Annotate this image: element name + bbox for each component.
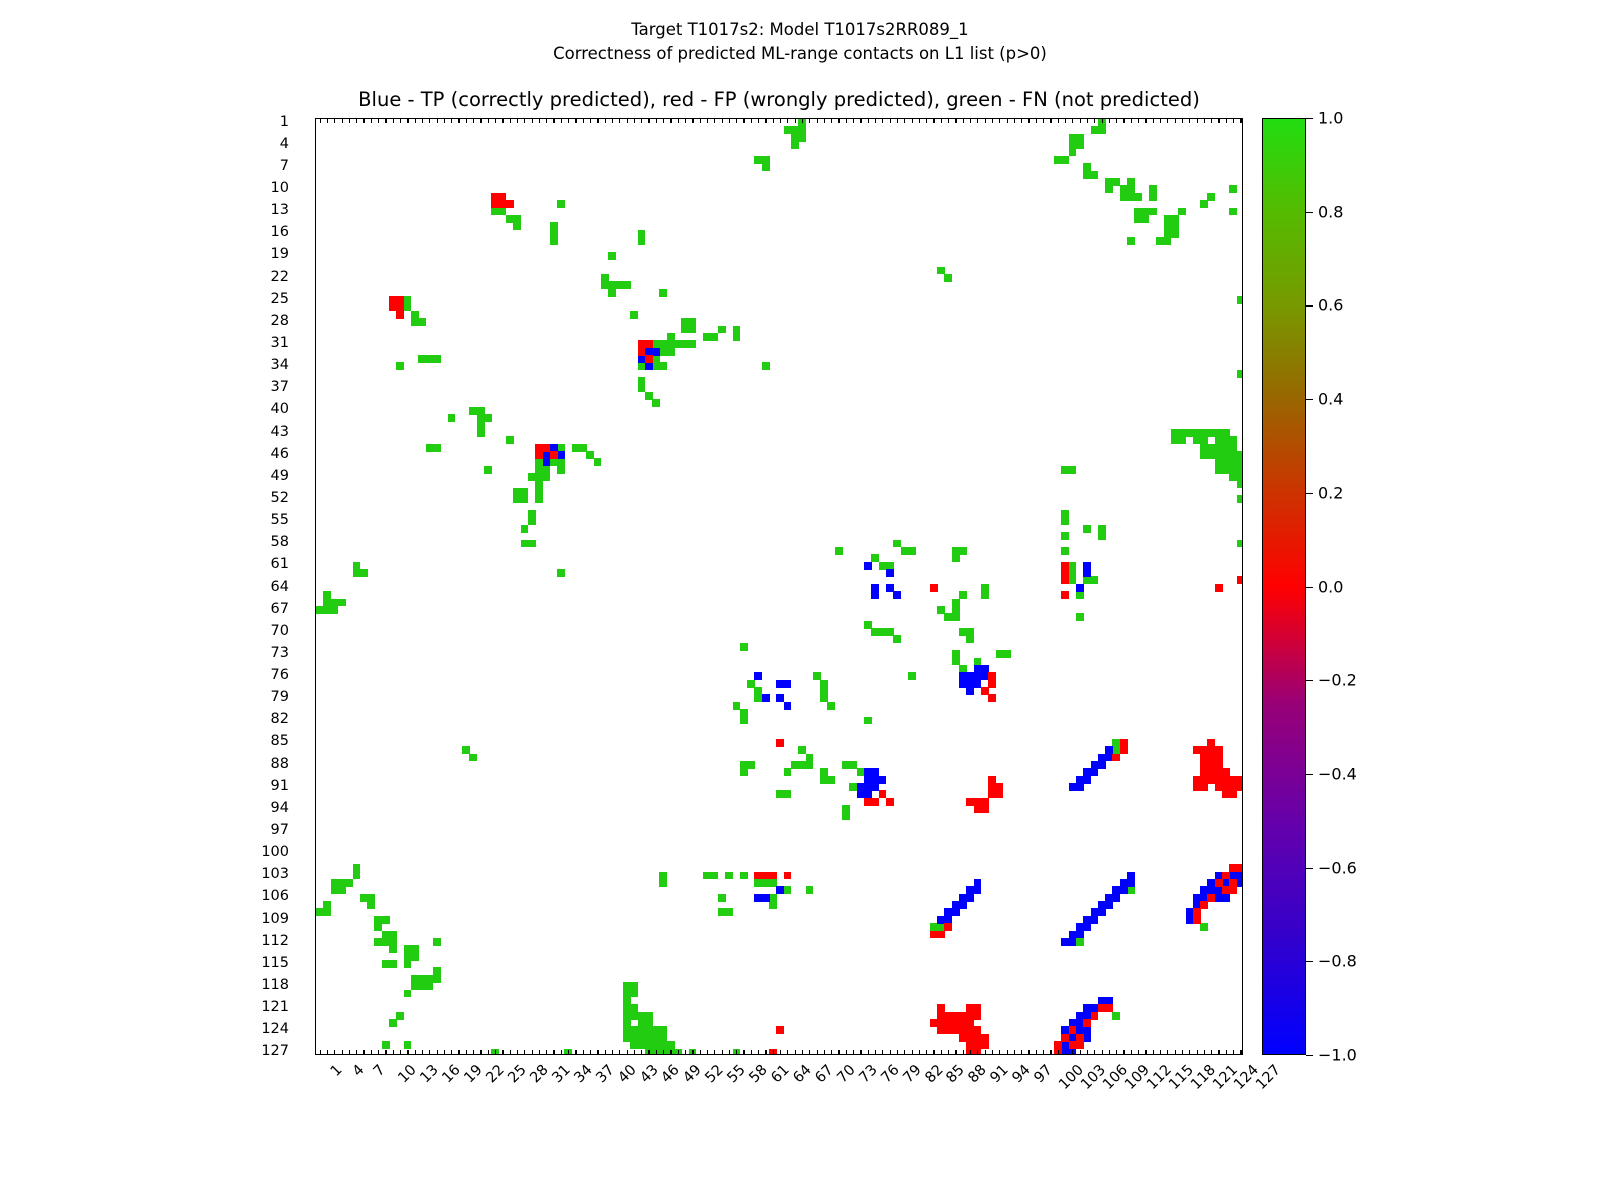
x-tick-minor	[1233, 1050, 1234, 1054]
x-tick-minor	[1102, 1050, 1103, 1054]
x-tick-minor	[1153, 119, 1154, 123]
x-tick-major	[648, 1050, 649, 1055]
contact-cell	[404, 1041, 412, 1049]
contact-cell	[864, 562, 872, 570]
contact-cell	[1207, 894, 1215, 902]
x-tick-minor	[327, 1050, 328, 1054]
contact-cell	[396, 1012, 404, 1020]
y-tick-minor	[315, 248, 316, 249]
y-tick-minor	[315, 226, 316, 227]
y-tick-minor	[315, 381, 316, 382]
contact-cell	[718, 326, 726, 334]
y-tick-minor	[315, 824, 316, 825]
y-tick-minor	[315, 683, 316, 684]
x-tick-minor	[561, 119, 562, 123]
contact-cell	[754, 672, 762, 680]
y-axis-tick-label: 118	[261, 977, 289, 993]
x-tick-minor	[963, 119, 964, 123]
y-tick-minor	[315, 315, 316, 316]
x-tick-minor	[1080, 119, 1081, 123]
x-tick-minor	[495, 119, 496, 123]
x-tick-minor	[992, 1050, 993, 1054]
y-tick-major	[315, 433, 316, 434]
y-tick-major	[315, 167, 316, 168]
y-tick-major	[315, 787, 316, 788]
contact-cell	[689, 326, 697, 334]
contact-cell	[1237, 783, 1243, 791]
contact-cell	[1149, 208, 1157, 216]
x-tick-minor	[1123, 1050, 1124, 1054]
x-tick-minor	[480, 119, 481, 123]
y-axis-tick-label: 7	[280, 158, 289, 174]
x-tick-minor	[1189, 119, 1190, 123]
x-tick-minor	[751, 1050, 752, 1054]
x-tick-major	[407, 1050, 408, 1055]
contact-cell	[528, 540, 536, 548]
contact-cell	[871, 776, 879, 784]
contact-cell	[996, 790, 1004, 798]
y-tick-minor	[315, 713, 316, 714]
y-tick-major	[315, 499, 316, 500]
x-tick-minor	[378, 119, 379, 123]
x-tick-minor	[817, 1050, 818, 1054]
contact-cell	[1076, 1041, 1084, 1049]
contact-cell	[557, 466, 565, 474]
x-tick-major	[451, 1050, 452, 1055]
x-tick-minor	[502, 119, 503, 123]
y-axis-tick-label: 22	[271, 269, 289, 285]
contact-cell	[966, 680, 974, 688]
colorbar-tick	[1306, 774, 1313, 775]
x-tick-major	[1065, 1050, 1066, 1055]
y-tick-minor	[315, 351, 316, 352]
y-tick-minor	[315, 204, 316, 205]
x-tick-minor	[393, 1050, 394, 1054]
contact-cell	[652, 348, 660, 356]
x-tick-major	[846, 1050, 847, 1055]
y-axis-tick-label: 13	[271, 202, 289, 218]
contact-cell	[1200, 200, 1208, 208]
x-tick-minor	[1116, 1050, 1117, 1054]
y-axis-tick-label: 100	[261, 844, 289, 860]
x-tick-major	[385, 1050, 386, 1055]
contact-cell	[754, 879, 762, 887]
contact-cell	[1200, 783, 1208, 791]
x-tick-minor	[1014, 119, 1015, 123]
contact-cell	[791, 141, 799, 149]
contact-cell	[1134, 193, 1142, 201]
y-tick-minor	[315, 396, 316, 397]
y-tick-major	[315, 565, 316, 566]
contact-cell	[1061, 569, 1069, 577]
y-tick-minor	[315, 492, 316, 493]
x-tick-minor	[378, 1050, 379, 1054]
contact-cell	[1127, 193, 1135, 201]
contact-cell	[974, 886, 982, 894]
y-tick-minor	[315, 536, 316, 537]
colorbar-tick-label: −1.0	[1318, 1046, 1357, 1065]
contact-cell	[1127, 237, 1135, 245]
contact-cell	[1237, 576, 1243, 584]
contact-cell	[645, 340, 653, 348]
y-tick-major	[315, 477, 316, 478]
x-tick-minor	[1167, 119, 1168, 123]
y-tick-major	[315, 986, 316, 987]
contact-cell	[557, 569, 565, 577]
y-tick-major	[315, 1008, 316, 1009]
y-tick-minor	[315, 152, 316, 153]
x-tick-minor	[743, 1050, 744, 1054]
contact-cell	[776, 739, 784, 747]
colorbar-tick	[1306, 1055, 1313, 1056]
x-tick-minor	[985, 119, 986, 123]
contact-cell	[974, 1012, 982, 1020]
contact-cell	[740, 768, 748, 776]
y-axis-tick-label: 55	[271, 512, 289, 528]
y-axis-tick-label: 61	[271, 556, 289, 572]
y-tick-major	[315, 1052, 316, 1053]
x-tick-minor	[429, 119, 430, 123]
y-axis-tick-label: 31	[271, 335, 289, 351]
contact-cell	[1215, 584, 1223, 592]
x-axis-tick-label: 25	[505, 1062, 529, 1086]
x-tick-minor	[1094, 1050, 1095, 1054]
contact-cell	[776, 886, 784, 894]
contact-cell	[1112, 754, 1120, 762]
x-tick-minor	[458, 119, 459, 123]
contact-cell	[1222, 894, 1230, 902]
y-tick-minor	[315, 1015, 316, 1016]
contact-cell	[733, 333, 741, 341]
x-tick-minor	[1050, 119, 1051, 123]
y-tick-minor	[315, 469, 316, 470]
y-axis-tick-label: 4	[280, 136, 289, 152]
y-tick-major	[315, 875, 316, 876]
x-tick-minor	[692, 119, 693, 123]
x-tick-minor	[1087, 119, 1088, 123]
x-tick-minor	[356, 1050, 357, 1054]
x-tick-minor	[575, 119, 576, 123]
contact-cell	[638, 237, 646, 245]
contact-cell	[433, 355, 441, 363]
x-tick-minor	[1072, 119, 1073, 123]
y-tick-major	[315, 300, 316, 301]
x-tick-minor	[546, 1050, 547, 1054]
contact-cell	[1098, 532, 1106, 540]
x-tick-minor	[897, 1050, 898, 1054]
contact-cell	[959, 547, 967, 555]
x-tick-minor	[809, 1050, 810, 1054]
contact-cell	[966, 894, 974, 902]
x-tick-minor	[524, 1050, 525, 1054]
y-axis-tick-label: 103	[261, 866, 289, 882]
x-tick-minor	[1102, 119, 1103, 123]
x-tick-major	[363, 1050, 364, 1055]
contact-cell	[827, 702, 835, 710]
contact-cell	[711, 333, 719, 341]
x-axis-tick-label: 34	[571, 1062, 595, 1086]
y-tick-minor	[315, 558, 316, 559]
x-tick-major	[320, 1050, 321, 1055]
y-tick-minor	[315, 403, 316, 404]
contact-cell	[1142, 215, 1150, 223]
x-tick-minor	[1072, 1050, 1073, 1054]
y-tick-minor	[315, 949, 316, 950]
y-tick-minor	[315, 868, 316, 869]
contact-cell	[659, 879, 667, 887]
y-tick-major	[315, 610, 316, 611]
y-tick-minor	[315, 647, 316, 648]
y-tick-major	[315, 322, 316, 323]
x-tick-minor	[700, 119, 701, 123]
contact-cell	[645, 355, 653, 363]
x-axis-tick-label: 4	[349, 1062, 367, 1080]
contact-cell	[323, 908, 331, 916]
x-tick-minor	[809, 119, 810, 123]
x-tick-minor	[941, 1050, 942, 1054]
y-tick-major	[315, 720, 316, 721]
y-tick-minor	[315, 418, 316, 419]
contact-cell	[1229, 790, 1237, 798]
y-tick-minor	[315, 573, 316, 574]
x-tick-minor	[656, 1050, 657, 1054]
x-tick-minor	[1226, 119, 1227, 123]
x-tick-minor	[824, 119, 825, 123]
x-tick-minor	[641, 1050, 642, 1054]
x-tick-minor	[780, 119, 781, 123]
x-tick-minor	[605, 119, 606, 123]
y-tick-major	[315, 521, 316, 522]
contact-cell	[1237, 540, 1243, 548]
contact-cell	[740, 872, 748, 880]
x-tick-minor	[422, 1050, 423, 1054]
x-tick-minor	[1028, 1050, 1029, 1054]
x-tick-minor	[897, 119, 898, 123]
x-tick-minor	[743, 119, 744, 123]
x-tick-minor	[510, 119, 511, 123]
suptitle-line-1: Target T1017s2: Model T1017s2RR089_1	[0, 18, 1600, 42]
y-tick-minor	[315, 927, 316, 928]
y-tick-minor	[315, 779, 316, 780]
y-tick-minor	[315, 359, 316, 360]
x-tick-minor	[970, 119, 971, 123]
x-tick-minor	[933, 119, 934, 123]
contact-cell	[1178, 436, 1186, 444]
x-tick-major	[714, 1050, 715, 1055]
x-tick-major	[758, 1050, 759, 1055]
y-tick-major	[315, 145, 316, 146]
contact-cell	[1222, 872, 1230, 880]
x-axis-tick-label: 28	[527, 1062, 551, 1086]
x-tick-minor	[473, 119, 474, 123]
y-tick-minor	[315, 307, 316, 308]
x-tick-minor	[773, 1050, 774, 1054]
x-tick-minor	[729, 1050, 730, 1054]
contact-cell	[1120, 886, 1128, 894]
contact-cell	[1098, 126, 1106, 134]
y-axis-tick-label: 49	[271, 468, 289, 484]
x-tick-minor	[1182, 119, 1183, 123]
contact-cell	[521, 495, 529, 503]
contact-cell	[776, 1026, 784, 1034]
y-tick-minor	[315, 447, 316, 448]
contact-map-cells	[316, 119, 1242, 1054]
contact-cell	[784, 702, 792, 710]
x-tick-minor	[415, 1050, 416, 1054]
y-axis-tick-label: 82	[271, 711, 289, 727]
y-tick-minor	[315, 669, 316, 670]
x-tick-minor	[334, 1050, 335, 1054]
x-tick-major	[1109, 1050, 1110, 1055]
y-axis-tick-label: 52	[271, 490, 289, 506]
contact-cell	[1237, 481, 1243, 489]
x-tick-major	[912, 1050, 913, 1055]
x-tick-minor	[948, 119, 949, 123]
x-tick-minor	[875, 119, 876, 123]
x-axis-tick-label: 70	[834, 1062, 858, 1086]
contact-cell	[769, 901, 777, 909]
y-tick-minor	[315, 617, 316, 618]
colorbar-tick	[1306, 212, 1313, 213]
y-axis-tick-label: 16	[271, 224, 289, 240]
contact-cell	[484, 414, 492, 422]
y-tick-minor	[315, 794, 316, 795]
x-axis-tick-label: 31	[549, 1062, 573, 1086]
x-tick-minor	[320, 119, 321, 123]
x-tick-minor	[627, 119, 628, 123]
y-tick-minor	[315, 816, 316, 817]
x-tick-minor	[875, 1050, 876, 1054]
y-tick-minor	[315, 285, 316, 286]
contact-cell	[630, 1012, 638, 1020]
y-tick-major	[315, 189, 316, 190]
y-tick-major	[315, 410, 316, 411]
contact-cell	[1120, 746, 1128, 754]
x-tick-major	[1218, 1050, 1219, 1055]
y-tick-minor	[315, 934, 316, 935]
y-tick-minor	[315, 801, 316, 802]
contact-cell	[871, 798, 879, 806]
contact-cell	[1061, 532, 1069, 540]
x-tick-minor	[846, 119, 847, 123]
contact-cell	[1076, 938, 1084, 946]
contact-cell	[331, 606, 339, 614]
contact-cell	[652, 399, 660, 407]
colorbar-tick	[1306, 587, 1313, 588]
figure-root: Target T1017s2: Model T1017s2RR089_1 Cor…	[0, 0, 1600, 1200]
contact-cell	[382, 1041, 390, 1049]
contact-cell	[1105, 901, 1113, 909]
y-axis-tick-label: 109	[261, 911, 289, 927]
x-tick-minor	[1138, 1050, 1139, 1054]
contact-cell	[1112, 894, 1120, 902]
x-tick-minor	[422, 119, 423, 123]
contact-cell	[784, 680, 792, 688]
y-tick-major	[315, 278, 316, 279]
x-tick-major	[1197, 1050, 1198, 1055]
colorbar-tick-label: −0.6	[1318, 858, 1357, 877]
y-tick-minor	[315, 706, 316, 707]
contact-cell	[1069, 149, 1077, 157]
contact-map-plot[interactable]	[315, 118, 1243, 1055]
contact-cell	[806, 761, 814, 769]
x-tick-minor	[648, 119, 649, 123]
x-tick-minor	[480, 1050, 481, 1054]
colorbar	[1262, 118, 1306, 1055]
x-tick-minor	[955, 119, 956, 123]
x-tick-minor	[765, 119, 766, 123]
contact-cell	[1069, 466, 1077, 474]
contact-cell	[1200, 923, 1208, 931]
x-tick-minor	[670, 119, 671, 123]
y-tick-minor	[315, 160, 316, 161]
y-tick-minor	[315, 196, 316, 197]
x-tick-minor	[831, 1050, 832, 1054]
contact-cell	[353, 872, 361, 880]
x-tick-major	[999, 1050, 1000, 1055]
y-tick-major	[315, 588, 316, 589]
x-tick-minor	[1167, 1050, 1168, 1054]
colorbar-tick-label: 1.0	[1318, 109, 1343, 128]
colorbar-tick	[1306, 118, 1313, 119]
x-tick-minor	[619, 119, 620, 123]
x-tick-major	[802, 1050, 803, 1055]
x-tick-major	[429, 1050, 430, 1055]
x-tick-minor	[970, 1050, 971, 1054]
contact-cell	[762, 163, 770, 171]
y-tick-minor	[315, 528, 316, 529]
y-axis-tick-label: 46	[271, 446, 289, 462]
x-tick-minor	[1036, 1050, 1037, 1054]
contact-cell	[557, 200, 565, 208]
contact-cell	[389, 960, 397, 968]
suptitle-line-2: Correctness of predicted ML-range contac…	[0, 42, 1600, 66]
contact-cell	[1069, 1026, 1077, 1034]
contact-cell	[1193, 916, 1201, 924]
contact-cell	[1091, 171, 1099, 179]
x-tick-minor	[868, 119, 869, 123]
x-tick-minor	[802, 119, 803, 123]
contact-cell	[1112, 1012, 1120, 1020]
x-tick-minor	[1036, 119, 1037, 123]
y-axis-tick-label: 70	[271, 623, 289, 639]
x-tick-minor	[707, 119, 708, 123]
y-axis-tick-label: 40	[271, 401, 289, 417]
x-tick-minor	[488, 119, 489, 123]
x-tick-minor	[532, 1050, 533, 1054]
x-tick-minor	[722, 119, 723, 123]
contact-cell	[959, 591, 967, 599]
contact-cell	[798, 134, 806, 142]
contact-cell	[908, 547, 916, 555]
contact-cell	[1076, 613, 1084, 621]
contact-cell	[477, 429, 485, 437]
y-axis-tick-label: 91	[271, 778, 289, 794]
x-tick-minor	[912, 119, 913, 123]
y-tick-minor	[315, 1045, 316, 1046]
x-tick-major	[890, 1050, 891, 1055]
y-tick-major	[315, 366, 316, 367]
x-tick-minor	[663, 119, 664, 123]
contact-cell	[1229, 208, 1237, 216]
x-tick-minor	[787, 119, 788, 123]
x-tick-minor	[415, 119, 416, 123]
y-tick-minor	[315, 979, 316, 980]
y-axis-tick-label: 76	[271, 667, 289, 683]
y-tick-minor	[315, 1001, 316, 1002]
x-tick-minor	[904, 1050, 905, 1054]
x-axis-tick-label: 76	[878, 1062, 902, 1086]
